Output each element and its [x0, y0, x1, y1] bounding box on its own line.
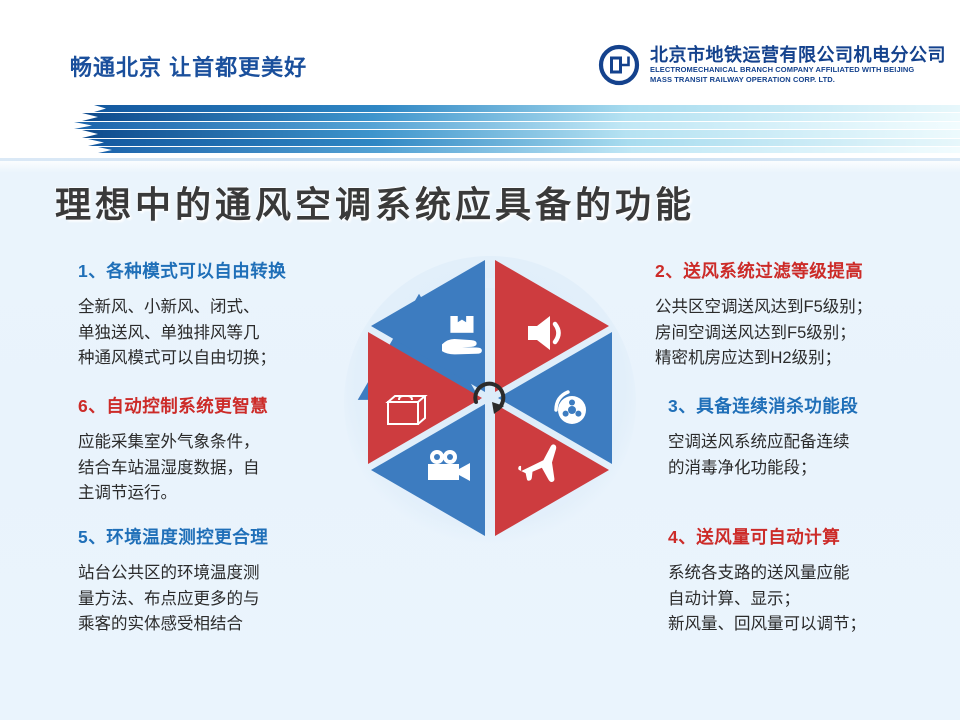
chevron-ribbon-decoration: [58, 105, 960, 153]
hexagon-diagram: [330, 248, 650, 584]
page-title: 理想中的通风空调系统应具备的功能: [55, 176, 695, 228]
feature-block-2-line-3: 精密机房应达到H2级别；: [655, 346, 955, 372]
feature-block-2-body: 公共区空调送风达到F5级别； 房间空调送风达到F5级别； 精密机房应达到H2级别…: [655, 295, 955, 372]
feature-block-4: 4、送风量可自动计算 系统各支路的送风量应能 自动计算、显示； 新风量、回风量可…: [668, 524, 960, 638]
feature-block-2-line-1: 公共区空调送风达到F5级别；: [655, 295, 955, 321]
feature-block-4-body: 系统各支路的送风量应能 自动计算、显示； 新风量、回风量可以调节；: [668, 561, 960, 638]
feature-block-4-line-2: 自动计算、显示；: [668, 587, 960, 613]
header-divider: [0, 158, 960, 161]
beijing-subway-electromechanical-logo-icon: [598, 44, 640, 86]
feature-block-4-heading: 4、送风量可自动计算: [668, 524, 960, 549]
feature-block-4-line-3: 新风量、回风量可以调节；: [668, 612, 960, 638]
company-name-cn: 北京市地铁运营有限公司机电分公司: [650, 45, 946, 66]
company-name-en-line1: ELECTROMECHANICAL BRANCH COMPANY AFFILIA…: [650, 65, 946, 75]
feature-block-3: 3、具备连续消杀功能段 空调送风系统应配备连续 的消毒净化功能段；: [668, 393, 960, 481]
feature-block-3-heading: 3、具备连续消杀功能段: [668, 393, 960, 418]
feature-block-3-body: 空调送风系统应配备连续 的消毒净化功能段；: [668, 430, 960, 481]
feature-block-4-line-1: 系统各支路的送风量应能: [668, 561, 960, 587]
feature-block-2-heading: 2、送风系统过滤等级提高: [655, 258, 955, 283]
company-name-group: 北京市地铁运营有限公司机电分公司 ELECTROMECHANICAL BRANC…: [650, 45, 946, 86]
hexagon-wedges: [330, 248, 650, 584]
feature-block-3-line-1: 空调送风系统应配备连续: [668, 430, 960, 456]
feature-block-5-line-3: 乘客的实体感受相结合: [78, 612, 378, 638]
feature-block-3-line-2: 的消毒净化功能段；: [668, 456, 960, 482]
company-logo-block: 北京市地铁运营有限公司机电分公司 ELECTROMECHANICAL BRANC…: [598, 44, 946, 86]
slide-canvas: 畅通北京 让首都更美好 北京市地铁运营有限公司机电分公司 ELECTROMECH…: [0, 0, 960, 720]
feature-block-5-line-2: 量方法、布点应更多的与: [78, 587, 378, 613]
header-slogan: 畅通北京 让首都更美好: [70, 50, 307, 82]
feature-block-2-line-2: 房间空调送风达到F5级别；: [655, 321, 955, 347]
company-name-en-line2: MASS TRANSIT RAILWAY OPERATION CORP. LTD…: [650, 75, 946, 85]
slide-header: 畅通北京 让首都更美好 北京市地铁运营有限公司机电分公司 ELECTROMECH…: [0, 0, 960, 160]
feature-block-2: 2、送风系统过滤等级提高 公共区空调送风达到F5级别； 房间空调送风达到F5级别…: [655, 258, 955, 372]
